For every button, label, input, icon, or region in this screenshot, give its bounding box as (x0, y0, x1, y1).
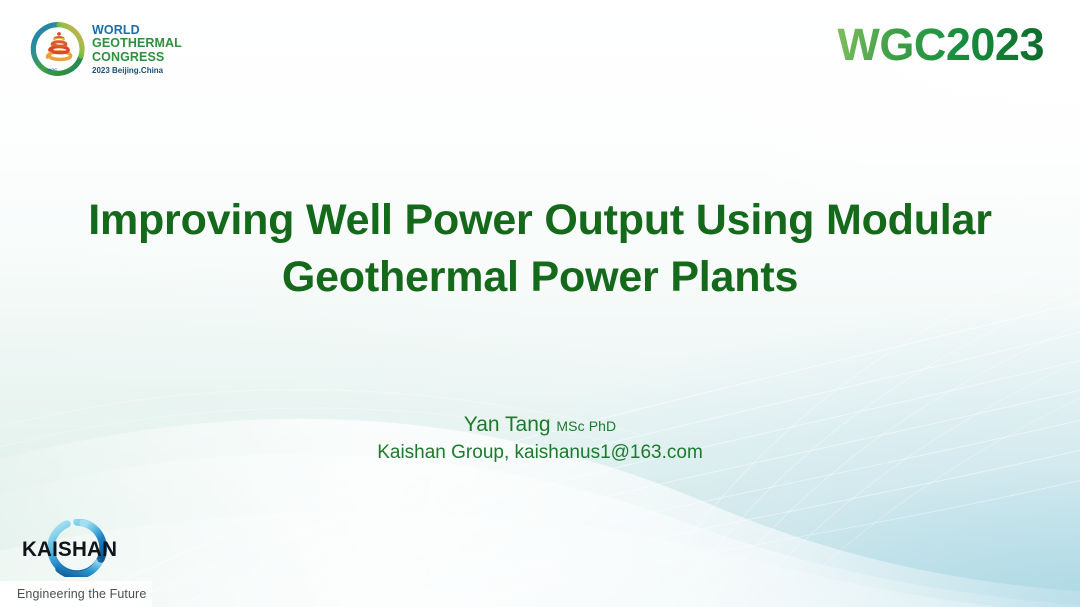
kaishan-wordmark: KAISHAN (22, 539, 117, 560)
author-name: Yan Tang (464, 413, 551, 436)
slide-title-line-1: Improving Well Power Output Using Modula… (24, 192, 1056, 249)
slide-title: Improving Well Power Output Using Modula… (0, 192, 1080, 306)
event-mark-wgc2023: WGC2023 (837, 22, 1044, 68)
slide-title-line-2: Geothermal Power Plants (24, 249, 1056, 306)
kaishan-logo: KAISHAN Engineering the Future (0, 519, 158, 607)
author-degrees: MSc PhD (556, 418, 616, 434)
kaishan-tagline-bar: Engineering the Future (0, 581, 152, 607)
world-geothermal-congress-logo: WGC WORLD GEOTHERMAL CONGRESS 2023 Beiji… (30, 16, 170, 82)
author-affiliation-email: Kaishan Group, kaishanus1@163.com (0, 441, 1080, 465)
author-block: Yan Tang MSc PhD Kaishan Group, kaishanu… (0, 412, 1080, 465)
svg-text:WGC: WGC (47, 67, 57, 72)
congress-logo-line-geothermal: GEOTHERMAL (92, 37, 182, 50)
congress-logo-line-location: 2023 Beijing.China (92, 65, 182, 76)
presentation-title-slide: WGC WORLD GEOTHERMAL CONGRESS 2023 Beiji… (0, 0, 1080, 607)
kaishan-tagline: Engineering the Future (17, 587, 146, 601)
author-name-line: Yan Tang MSc PhD (0, 412, 1080, 439)
congress-logo-line-congress: CONGRESS (92, 51, 182, 64)
wgc-circular-emblem-icon: WGC (30, 20, 88, 78)
